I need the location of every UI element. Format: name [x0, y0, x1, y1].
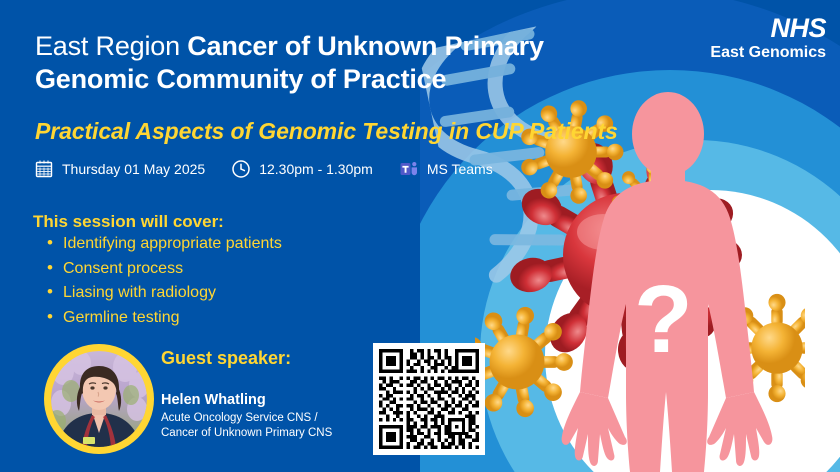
poster: ? NHS East Genomics East Region Cancer o… [0, 0, 840, 472]
nhs-logo-primary: NHS [710, 14, 826, 42]
event-meta-row: Thursday 01 May 2025 12.30pm - 1.30pm MS [34, 159, 519, 179]
meta-item-date: Thursday 01 May 2025 [34, 159, 205, 179]
meta-time-label: 12.30pm - 1.30pm [259, 161, 373, 177]
meta-item-time: 12.30pm - 1.30pm [231, 159, 373, 179]
list-item: Germline testing [45, 308, 282, 327]
speaker-role: Acute Oncology Service CNS / Cancer of U… [161, 411, 371, 440]
qr-code-container[interactable] [373, 343, 485, 455]
clock-icon [231, 159, 251, 179]
content-column: East Region Cancer of Unknown Primary Ge… [0, 0, 700, 472]
nhs-logo-secondary: East Genomics [710, 43, 826, 63]
list-item: Identifying appropriate patients [45, 234, 282, 253]
avatar-ring [44, 344, 154, 454]
meta-platform-label: MS Teams [427, 161, 493, 177]
page-title: East Region Cancer of Unknown Primary Ge… [35, 30, 655, 96]
nhs-logo: NHS East Genomics [710, 14, 826, 63]
avatar [51, 351, 147, 447]
page-title-light: East Region [35, 31, 187, 61]
calendar-icon [34, 159, 54, 179]
list-item: Liasing with radiology [45, 283, 282, 302]
meta-date-label: Thursday 01 May 2025 [62, 161, 205, 177]
speaker-role-line-1: Acute Oncology Service CNS / [161, 412, 318, 424]
list-item: Consent process [45, 259, 282, 278]
ms-teams-icon [399, 159, 419, 179]
speaker-name: Helen Whatling [161, 392, 266, 408]
page-subtitle: Practical Aspects of Genomic Testing in … [35, 117, 685, 145]
session-bullet-list: Identifying appropriate patients Consent… [45, 234, 282, 332]
qr-code[interactable] [379, 349, 479, 449]
speaker-portrait-photo [51, 351, 147, 447]
session-heading: This session will cover: [33, 212, 224, 232]
guest-speaker-label: Guest speaker: [161, 348, 291, 369]
guest-speaker-block: Guest speaker: Helen Whatling Acute Onco… [44, 344, 364, 464]
speaker-role-line-2: Cancer of Unknown Primary CNS [161, 427, 332, 439]
meta-item-platform: MS Teams [399, 159, 493, 179]
